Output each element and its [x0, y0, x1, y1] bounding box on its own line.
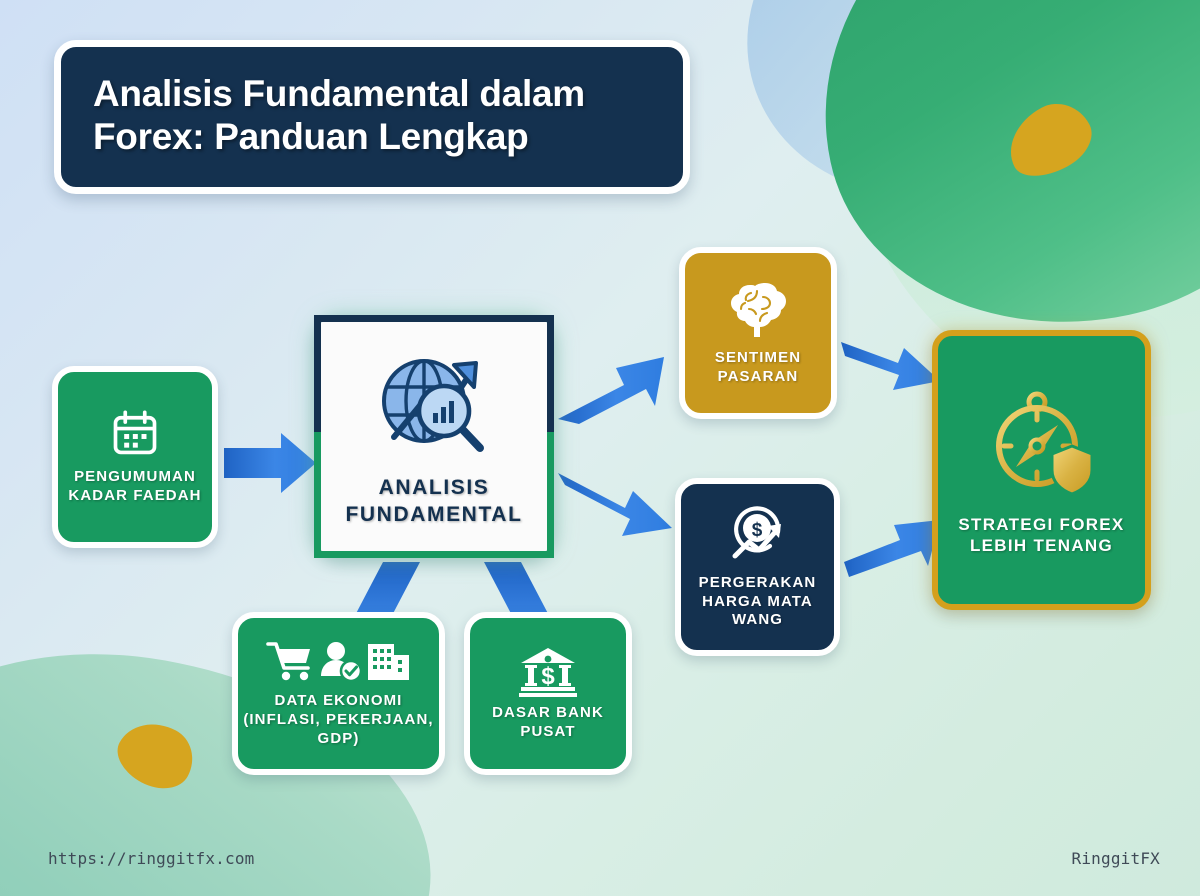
node-forex-strategy[interactable]: STRATEGI FOREX LEBIH TENANG: [932, 330, 1151, 610]
cart-person-check-building-icon: [264, 638, 414, 686]
node-market-sentiment[interactable]: SENTIMEN PASARAN: [679, 247, 837, 419]
node-interest-rate-label: PENGUMUMAN KADAR FAEDAH: [58, 468, 212, 506]
brain-icon: [727, 279, 789, 339]
node-central-bank-policy[interactable]: $ DASAR BANK PUSAT: [464, 612, 632, 775]
node-fundamental-analysis[interactable]: ANALISIS FUNDAMENTAL: [314, 315, 554, 558]
node-forex-strategy-label: STRATEGI FOREX LEBIH TENANG: [938, 514, 1145, 557]
infographic-canvas: Analisis Fundamental dalam Forex: Pandua…: [0, 0, 1200, 896]
node-currency-price-movement[interactable]: $ PERGERAKAN HARGA MATA WANG: [675, 478, 840, 656]
connector-core-to-sentiment: [558, 357, 664, 424]
background-blob-gold-bottom: [108, 710, 204, 800]
svg-text:$: $: [541, 663, 555, 690]
bank-dollar-icon: $: [517, 646, 579, 698]
globe-magnifier-chart-icon: [368, 345, 500, 469]
svg-text:$: $: [751, 520, 762, 541]
background-blob-green: [777, 0, 1200, 369]
connector-core-to-price: [558, 473, 672, 536]
title-card: Analisis Fundamental dalam Forex: Pandua…: [54, 40, 690, 194]
compass-shield-icon: [984, 384, 1100, 500]
node-economic-data[interactable]: DATA EKONOMI (INFLASI, PEKERJAAN, GDP): [232, 612, 445, 775]
page-title: Analisis Fundamental dalam Forex: Pandua…: [93, 73, 653, 159]
footer-url[interactable]: https://ringgitfx.com: [48, 849, 255, 868]
connector-price-to-strategy: [844, 520, 940, 577]
footer-brand: RinggitFX: [1072, 849, 1161, 868]
connector-sentiment-to-strategy: [841, 342, 940, 390]
node-fundamental-analysis-label: ANALISIS FUNDAMENTAL: [321, 475, 547, 528]
page-title-line2: Forex: Panduan Lengkap: [93, 116, 528, 157]
node-economic-data-label: DATA EKONOMI (INFLASI, PEKERJAAN, GDP): [238, 692, 439, 749]
node-interest-rate-announcement[interactable]: PENGUMUMAN KADAR FAEDAH: [52, 366, 218, 548]
dollar-coin-trend-icon: $: [725, 504, 791, 566]
calendar-icon: [109, 408, 161, 460]
node-market-sentiment-label: SENTIMEN PASARAN: [685, 349, 831, 387]
node-central-bank-policy-label: DASAR BANK PUSAT: [470, 704, 626, 742]
background-blob-blue: [699, 0, 1150, 247]
node-currency-price-movement-label: PERGERAKAN HARGA MATA WANG: [681, 574, 834, 631]
page-title-line1: Analisis Fundamental dalam: [93, 73, 585, 114]
connector-interest-to-core: [224, 433, 316, 493]
background-blob-gold-top: [996, 92, 1102, 189]
